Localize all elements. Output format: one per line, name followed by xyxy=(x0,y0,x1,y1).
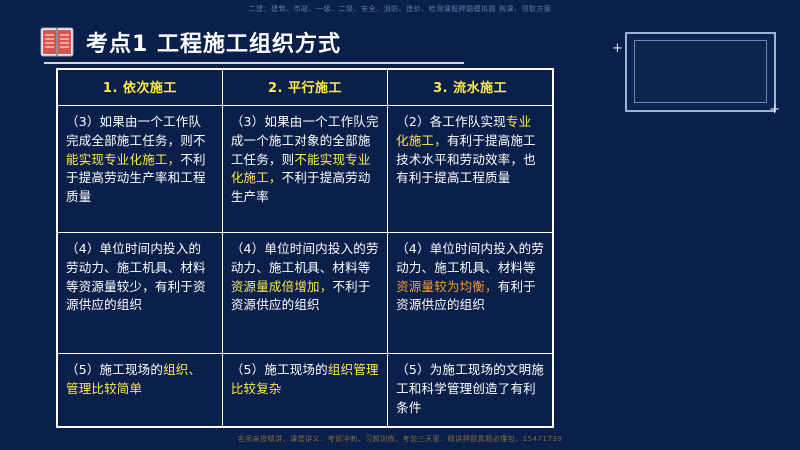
table-row: （3）如果由一个工作队完成全部施工任务，则不能实现专业化施工，不利于提高劳动生产… xyxy=(57,106,553,233)
cell-r0c2: （2）各工作队实现专业化施工，有利于提高施工技术水平和劳动效率，也有利于提高工程… xyxy=(388,106,553,233)
book-icon xyxy=(40,26,74,58)
page-title: 考点1 工程施工组织方式 xyxy=(86,26,341,58)
column-header-flow: 3. 流水施工 xyxy=(388,69,553,106)
column-header-sequential: 1. 依次施工 xyxy=(57,69,222,106)
cell-r2c2: （5）为施工现场的文明施工和科学管理创造了有利条件 xyxy=(388,354,553,428)
table-row: （5）施工现场的组织、管理比较简单 （5）施工现场的组织管理比较复杂 （5）为施… xyxy=(57,354,553,428)
cell-r1c2: （4）单位时间内投入的劳动力、施工机具、材料等资源量较为均衡，有利于资源供应的组… xyxy=(388,233,553,354)
title-underline xyxy=(44,62,464,64)
top-watermark: 二建：建筑、市政、一级、二级、安全、消防、造价、检测课程押题模拟题 购课、领取方… xyxy=(0,4,800,14)
cell-r0c0: （3）如果由一个工作队完成全部施工任务，则不能实现专业化施工，不利于提高劳动生产… xyxy=(57,106,222,233)
table-row: （4）单位时间内投入的劳动力、施工机具、材料等资源量较少，有利于资源供应的组织 … xyxy=(57,233,553,354)
table-body: （3）如果由一个工作队完成全部施工任务，则不能实现专业化施工，不利于提高劳动生产… xyxy=(57,106,553,428)
picture-frame-decoration: + + xyxy=(612,22,780,122)
frame-inner xyxy=(634,40,767,103)
cell-r0c1: （3）如果由一个工作队完成一个施工对象的全部施工任务，则不能实现专业化施工，不利… xyxy=(222,106,387,233)
comparison-table: 1. 依次施工 2. 平行施工 3. 流水施工 （3）如果由一个工作队完成全部施… xyxy=(56,68,554,428)
comparison-table-wrapper: 1. 依次施工 2. 平行施工 3. 流水施工 （3）如果由一个工作队完成全部施… xyxy=(56,68,554,428)
bottom-watermark: 名师亲授精讲、课堂讲义、考前冲刺、习题训练、考前三天密、精讲押题真题必懂包、15… xyxy=(0,434,800,444)
page-title-row: 考点1 工程施工组织方式 xyxy=(40,26,341,58)
plus-icon-bottom-right: + xyxy=(769,103,780,116)
cell-r1c1: （4）单位时间内投入的劳动力、施工机具、材料等资源量成倍增加，不利于资源供应的组… xyxy=(222,233,387,354)
table-header-row: 1. 依次施工 2. 平行施工 3. 流水施工 xyxy=(57,69,553,106)
column-header-parallel: 2. 平行施工 xyxy=(222,69,387,106)
cell-r2c1: （5）施工现场的组织管理比较复杂 xyxy=(222,354,387,428)
cell-r2c0: （5）施工现场的组织、管理比较简单 xyxy=(57,354,222,428)
plus-icon-top-left: + xyxy=(612,42,623,55)
cell-r1c0: （4）单位时间内投入的劳动力、施工机具、材料等资源量较少，有利于资源供应的组织 xyxy=(57,233,222,354)
